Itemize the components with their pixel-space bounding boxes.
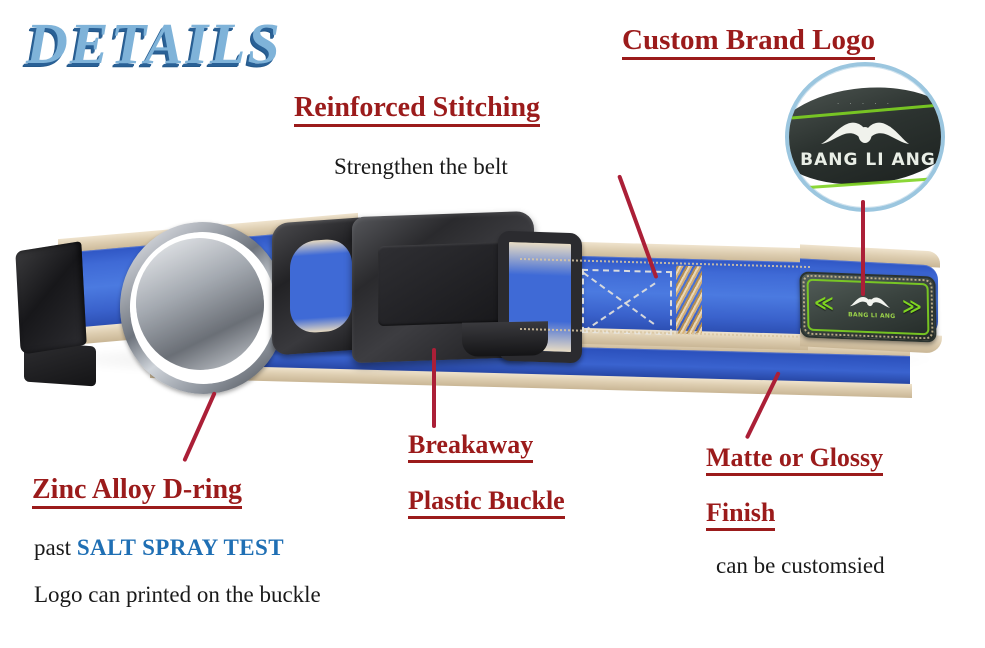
- callout-reinforced-stitching-subtitle: Strengthen the belt: [334, 154, 508, 180]
- callout-matte-or-glossy-label-line2: Finish: [706, 498, 775, 531]
- callout-matte-or-glossy-subtitle: can be customsied: [716, 553, 885, 579]
- callout-zinc-alloy-dring-label: Zinc Alloy D-ring: [32, 474, 242, 509]
- patch-chevron-right-icon: ≫: [902, 297, 922, 317]
- callout-salt-spray-line: past SALT SPRAY TEST: [34, 535, 284, 561]
- logo-dog-silhouette-icon: [819, 112, 911, 152]
- buckle-release-latch: [462, 321, 548, 357]
- product-photo-dog-collar: ≪ ≫ BANG LI ANG: [0, 196, 985, 416]
- brand-logo-patch: ≪ ≫ BANG LI ANG: [799, 271, 936, 342]
- callout-custom-brand-logo: Custom Brand Logo: [622, 24, 875, 60]
- salt-spray-prefix: past: [34, 535, 77, 560]
- callout-zinc-alloy-dring: Zinc Alloy D-ring: [32, 474, 242, 509]
- logo-brand-text: BANG LI ANG: [793, 150, 943, 170]
- pointer-line-logo: [861, 200, 865, 296]
- callout-breakaway-buckle-label-line1: Breakaway: [408, 430, 533, 463]
- callout-breakaway-buckle-label-line2: Plastic Buckle: [408, 486, 565, 519]
- logo-top-dots: · · · · ·: [813, 100, 917, 108]
- salt-spray-emphasis: SALT SPRAY TEST: [77, 535, 284, 560]
- patch-chevron-left-icon: ≪: [814, 294, 834, 314]
- brand-logo-zoom-circle: · · · · · BANG LI ANG: [785, 62, 945, 212]
- callout-custom-brand-logo-label: Custom Brand Logo: [622, 24, 875, 60]
- buckle-strap-slot-left: [290, 238, 352, 334]
- callout-matte-or-glossy-line2: Finish: [706, 498, 775, 531]
- pointer-line-buckle: [432, 348, 436, 428]
- detail-infographic: DETAILS: [0, 0, 985, 648]
- callout-matte-or-glossy-label-line1: Matte or Glossy: [706, 443, 883, 476]
- callout-matte-or-glossy: Matte or Glossy: [706, 443, 883, 476]
- reinforced-bartack-stitch: [676, 266, 702, 335]
- buckle-engraving-panel: [378, 242, 506, 326]
- callout-reinforced-stitching-label: Reinforced Stitching: [294, 92, 540, 127]
- callout-logo-on-buckle-note: Logo can printed on the buckle: [34, 582, 321, 608]
- collar-end-tip: [15, 241, 86, 355]
- page-title: DETAILS: [26, 10, 282, 77]
- callout-breakaway-buckle-line2: Plastic Buckle: [408, 486, 565, 519]
- callout-breakaway-buckle: Breakaway: [408, 430, 533, 463]
- patch-dog-silhouette-icon: [848, 289, 892, 313]
- callout-reinforced-stitching: Reinforced Stitching: [294, 92, 540, 127]
